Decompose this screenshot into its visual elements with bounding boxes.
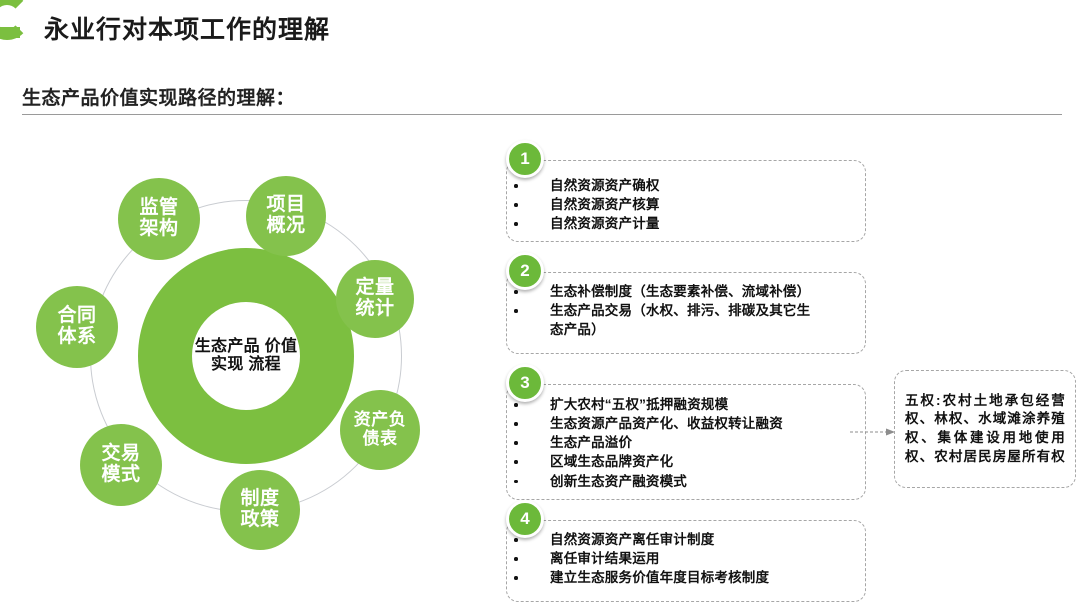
step-number-badge[interactable]: 3	[506, 364, 544, 402]
diagram-bubble-label: 项目 概况	[266, 195, 305, 237]
step-bullet-item: 生态产品溢价	[498, 433, 850, 452]
center-label: 生态产品 价值实现 流程	[192, 338, 300, 374]
step-bullet-item: 自然资源资产计量	[498, 214, 850, 233]
step-list: 1自然资源资产确权自然资源资产核算自然资源资产计量2生态补偿制度（生态要素补偿、…	[498, 142, 1078, 610]
page-title: 永业行对本项工作的理解	[44, 10, 330, 46]
step-bullet-list: 自然资源资产离任审计制度离任审计结果运用建立生态服务价值年度目标考核制度	[498, 530, 850, 587]
slide-canvas: YYD 永业行对本项工作的理解 生态产品价值实现路径的理解： 生态产品 价值实现…	[0, 0, 1080, 610]
diagram-bubble[interactable]: 合同 体系	[36, 286, 118, 368]
step-bullet-item: 生态产品交易（水权、排污、排碳及其它生 态产品）	[498, 301, 850, 339]
diagram-bubble[interactable]: 制度 政策	[220, 470, 300, 550]
center-donut-inner: 生态产品 价值实现 流程	[192, 302, 300, 410]
diagram-bubble-label: 制度 政策	[240, 489, 279, 531]
diagram-bubble-label: 交易 模式	[101, 444, 140, 486]
step-bullet-item: 离任审计结果运用	[498, 549, 850, 568]
diagram-bubble[interactable]: 资产负 债表	[340, 390, 420, 470]
step-bullet-item: 自然资源资产离任审计制度	[498, 530, 850, 549]
logo-bar-shape	[0, 27, 20, 38]
diagram-bubble-label: 合同 体系	[57, 306, 96, 348]
diagram-bubble-label: 监管 架构	[139, 198, 178, 240]
center-donut: 生态产品 价值实现 流程	[138, 248, 354, 464]
step-number-badge[interactable]: 1	[506, 140, 544, 178]
note-connector-arrow	[850, 427, 896, 437]
five-rights-note-text: 五权:农村土地承包经营权、林权、水域滩涂养殖权、集体建设用地使用权、农村居民房屋…	[895, 392, 1075, 467]
step-bullet-item: 扩大农村“五权”抵押融资规模	[498, 395, 850, 414]
diagram-bubble[interactable]: 监管 架构	[118, 178, 200, 260]
step-number-badge[interactable]: 4	[506, 500, 544, 538]
diagram-bubble-label: 资产负 债表	[354, 411, 407, 448]
diagram-bubble[interactable]: 交易 模式	[80, 424, 162, 506]
diagram-bubble-label: 定量 统计	[355, 278, 394, 320]
section-title: 生态产品价值实现路径的理解：	[22, 83, 295, 110]
step-bullet-item: 创新生态资产融资模式	[498, 472, 850, 491]
diagram-bubble[interactable]: 定量 统计	[336, 260, 414, 338]
five-rights-note-box: 五权:农村土地承包经营权、林权、水域滩涂养殖权、集体建设用地使用权、农村居民房屋…	[894, 370, 1076, 488]
step-bullet-item: 建立生态服务价值年度目标考核制度	[498, 568, 850, 587]
brand-logo-icon: YYD	[0, 0, 30, 46]
diagram-bubble[interactable]: 项目 概况	[246, 176, 326, 256]
step-number-badge[interactable]: 2	[506, 252, 544, 290]
step-bullet-item: 生态资源产品资产化、收益权转让融资	[498, 414, 850, 433]
step-bullet-list: 扩大农村“五权”抵押融资规模生态资源产品资产化、收益权转让融资生态产品溢价区域生…	[498, 395, 850, 491]
circular-process-diagram: 生态产品 价值实现 流程 项目 概况定量 统计资产负 债表制度 政策交易 模式合…	[18, 150, 478, 600]
step-bullet-item: 区域生态品牌资产化	[498, 452, 850, 471]
step-bullet-item: 自然资源资产确权	[498, 176, 850, 195]
step-bullet-item: 生态补偿制度（生态要素补偿、流域补偿）	[498, 282, 850, 301]
step-bullet-list: 生态补偿制度（生态要素补偿、流域补偿）生态产品交易（水权、排污、排碳及其它生 态…	[498, 282, 850, 339]
header-divider	[22, 114, 1062, 115]
step-bullet-list: 自然资源资产确权自然资源资产核算自然资源资产计量	[498, 176, 850, 233]
step-bullet-item: 自然资源资产核算	[498, 195, 850, 214]
